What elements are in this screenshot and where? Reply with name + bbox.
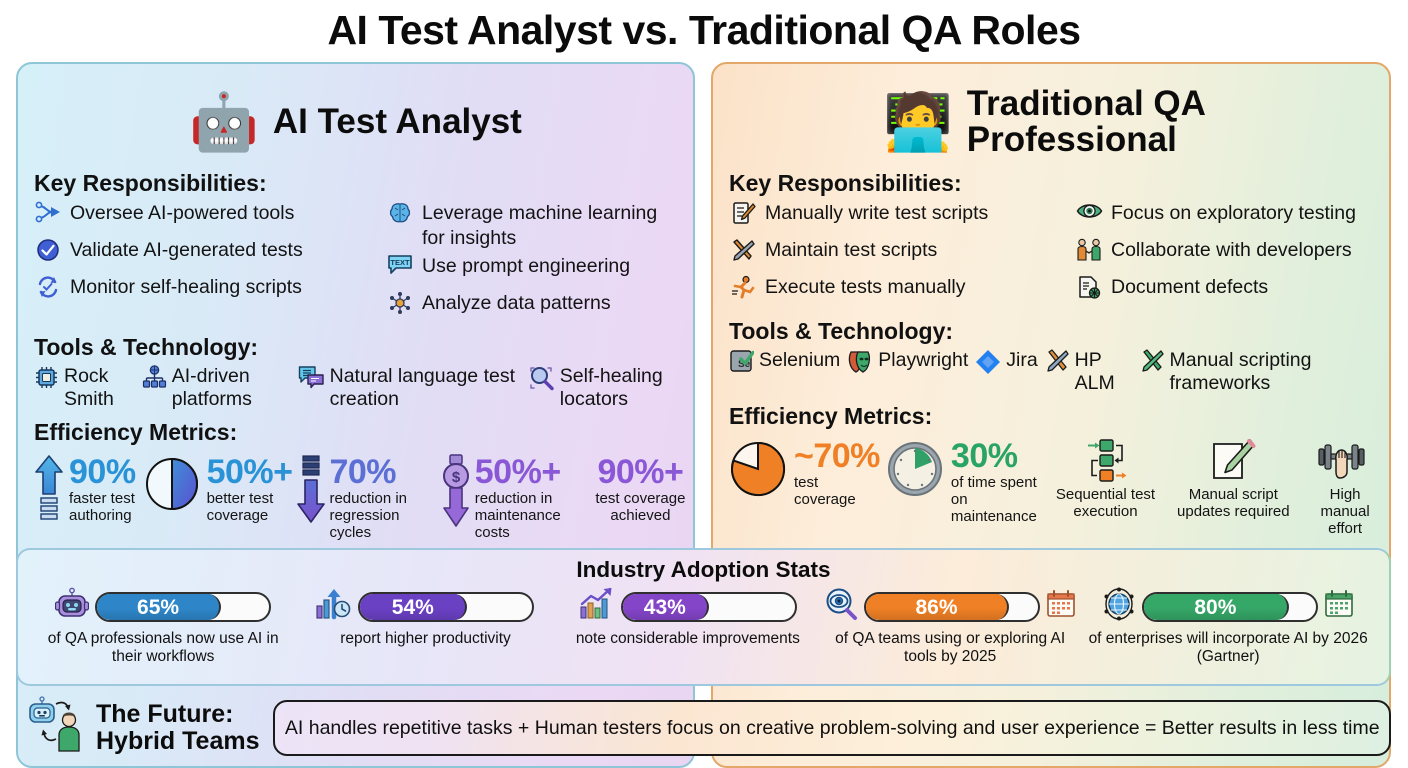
- list-item: Analyze data patterns: [386, 291, 683, 325]
- dollar-down-arrow-icon: $: [440, 454, 472, 528]
- list-item-label: Collaborate with developers: [1111, 238, 1352, 263]
- metric-value: 90%+: [597, 454, 683, 490]
- metric-caption: of time spent on maintenance: [951, 474, 1048, 525]
- stat-caption: report higher productivity: [340, 630, 511, 648]
- progress-bar-fill: 54%: [360, 594, 467, 620]
- growth-chart-icon: [579, 587, 615, 627]
- list-item-label: Monitor self-healing scripts: [70, 275, 302, 300]
- data-network-icon: [386, 291, 414, 322]
- tool-label: Playwright: [878, 349, 968, 372]
- list-item-label: Oversee AI-powered tools: [70, 201, 294, 226]
- selenium-icon: Se: [729, 349, 754, 380]
- left-metrics: 90% faster test authoring 50%+ better te…: [18, 450, 693, 541]
- metric-caption: Sequential test execution: [1054, 486, 1158, 520]
- down-arrow-icon: [296, 454, 326, 524]
- industry-adoption-stats-card: Industry Adoption Stats 65% of QA profes…: [16, 548, 1391, 686]
- list-item-label: Leverage machine learning for insights: [422, 201, 683, 251]
- metric-caption: High manual effort: [1307, 486, 1383, 537]
- tool-item: Self-healing locators: [528, 365, 685, 411]
- left-panel-heading: AI Test Analyst: [273, 104, 522, 140]
- list-item-label: Manually write test scripts: [765, 201, 988, 226]
- infographic-root: AI Test Analyst vs. Traditional QA Roles…: [0, 0, 1408, 768]
- future-hybrid-teams: The Future: Hybrid Teams AI handles repe…: [16, 692, 1391, 764]
- list-item: TEXT Use prompt engineering: [386, 254, 683, 288]
- future-label-line1: The Future:: [96, 701, 259, 728]
- left-tools: Rock Smith AI-driven platforms Natural l…: [18, 365, 693, 411]
- chip-icon: [34, 365, 59, 396]
- list-item: Validate AI-generated tests: [34, 238, 386, 272]
- stat-item: 65% of QA professionals now use AI in th…: [32, 587, 294, 666]
- eye-magnifier-icon: [824, 587, 858, 627]
- right-metrics-title: Efficiency Metrics:: [729, 403, 1389, 430]
- tool-item: Se Selenium: [729, 349, 840, 380]
- progress-percent: 65%: [137, 597, 179, 618]
- metric-item: Manual script updates required: [1169, 438, 1297, 520]
- robot-magnifier-icon: 🤖: [189, 94, 259, 150]
- eye-icon: [1075, 201, 1103, 228]
- future-message-bubble: AI handles repetitive tasks + Human test…: [273, 700, 1391, 756]
- metric-value: 50%+: [207, 453, 293, 491]
- list-item-label: Validate AI-generated tests: [70, 238, 303, 263]
- metric-caption: better test coverage: [207, 490, 293, 524]
- list-item-label: Maintain test scripts: [765, 238, 937, 263]
- hierarchy-icon: [142, 365, 167, 397]
- progress-bar-fill: 86%: [866, 594, 1009, 620]
- right-tools-title: Tools & Technology:: [729, 318, 1389, 345]
- svg-text:$: $: [452, 469, 461, 486]
- progress-bar-fill: 80%: [1144, 594, 1288, 620]
- progress-bar-fill: 43%: [623, 594, 709, 620]
- handshake-people-icon: [1075, 238, 1103, 270]
- list-item: Monitor self-healing scripts: [34, 275, 386, 309]
- tool-label: Self-healing locators: [560, 365, 685, 411]
- tool-item: AI-driven platforms: [142, 365, 288, 411]
- pencil-note-icon: [1208, 438, 1258, 484]
- metric-caption: reduction in maintenance costs: [475, 490, 586, 541]
- list-item: Maintain test scripts: [729, 238, 1075, 272]
- metric-caption: faster test authoring: [69, 490, 136, 524]
- list-item: Focus on exploratory testing: [1075, 201, 1379, 235]
- tool-item: Natural language test creation: [298, 365, 518, 411]
- metric-item: 30% of time spent on maintenance: [884, 438, 1048, 525]
- metric-caption: Manual script updates required: [1169, 486, 1297, 520]
- left-responsibilities-title: Key Responsibilities:: [34, 170, 693, 197]
- wrench-screwdriver-icon: [729, 238, 757, 270]
- chat-bubbles-icon: [298, 365, 325, 396]
- runner-icon: [729, 275, 757, 307]
- stat-item: 80% of enterprises will incorporate AI b…: [1081, 587, 1375, 666]
- metric-value: ~70%: [794, 437, 880, 475]
- notepad-pencil-icon: [729, 201, 757, 233]
- tool-label: HP ALM: [1075, 349, 1133, 395]
- stat-caption: of enterprises will incorporate AI by 20…: [1081, 630, 1375, 666]
- weight-lift-icon: [1317, 438, 1373, 484]
- stat-item: 43% note considerable improvements: [557, 587, 819, 666]
- tool-item: Jira: [975, 349, 1037, 381]
- calendar-icon: [1046, 589, 1076, 625]
- list-item: Manually write test scripts: [729, 201, 1075, 235]
- right-tools: Se Selenium Playwright Jira HP: [713, 349, 1389, 395]
- text-bubble-icon: TEXT: [386, 254, 414, 283]
- tool-item: Rock Smith: [34, 365, 132, 411]
- stat-caption: of QA teams using or exploring AI tools …: [819, 630, 1081, 666]
- arrow-branch-icon: [34, 201, 62, 230]
- tool-label: Jira: [1006, 349, 1037, 372]
- right-responsibilities-title: Key Responsibilities:: [729, 170, 1389, 197]
- sequential-flow-icon: [1076, 438, 1134, 484]
- half-pie-icon: [142, 454, 202, 514]
- stat-caption: of QA professionals now use AI in their …: [32, 630, 294, 666]
- clock-icon: [884, 438, 946, 500]
- robot-human-cycle-icon: [26, 695, 88, 761]
- progress-bar: 65%: [95, 592, 271, 622]
- document-bug-icon: [1075, 275, 1103, 307]
- magnifier-icon: [528, 365, 555, 397]
- list-item-label: Use prompt engineering: [422, 254, 630, 279]
- page-title: AI Test Analyst vs. Traditional QA Roles: [0, 2, 1408, 58]
- stats-row: 65% of QA professionals now use AI in th…: [18, 583, 1389, 666]
- tool-label: Natural language test creation: [330, 365, 518, 411]
- tool-label: AI-driven platforms: [172, 365, 288, 411]
- progress-bar-fill: 65%: [97, 594, 221, 620]
- list-item: Execute tests manually: [729, 275, 1075, 309]
- check-circle-icon: [34, 238, 62, 269]
- list-item: Oversee AI-powered tools: [34, 201, 386, 235]
- stat-item: 54% report higher productivity: [294, 587, 556, 666]
- metric-caption: test coverage achieved: [594, 490, 687, 524]
- globe-network-icon: [1102, 587, 1136, 627]
- metric-value: 70%: [329, 453, 396, 491]
- progress-percent: 80%: [1194, 597, 1236, 618]
- metric-value: 30%: [951, 437, 1018, 475]
- metric-item: $ 50%+ reduction in maintenance costs: [440, 454, 586, 541]
- right-heading-line2: Professional: [967, 122, 1206, 158]
- list-item: Leverage machine learning for insights: [386, 201, 683, 251]
- metric-value: 90%: [69, 453, 136, 491]
- list-item: Document defects: [1075, 275, 1379, 309]
- tool-item: Playwright: [847, 349, 968, 380]
- progress-percent: 86%: [916, 597, 958, 618]
- future-message: AI handles repetitive tasks + Human test…: [285, 717, 1380, 740]
- right-panel-header: 🧑‍💻 Traditional QA Professional: [713, 64, 1389, 166]
- pie-chart-icon: [727, 438, 789, 500]
- tools-cross-icon: [1045, 349, 1070, 380]
- playwright-mask-icon: [847, 349, 873, 380]
- list-item-label: Analyze data patterns: [422, 291, 611, 316]
- stats-title: Industry Adoption Stats: [18, 550, 1389, 583]
- left-responsibilities: Oversee AI-powered tools Validate AI-gen…: [18, 201, 693, 328]
- bar-chart-clock-icon: [316, 587, 352, 627]
- metric-item: High manual effort: [1307, 438, 1383, 537]
- left-metrics-title: Efficiency Metrics:: [34, 419, 693, 446]
- up-arrow-icon: [32, 454, 66, 520]
- metric-item: 90%+ test coverage achieved: [594, 454, 687, 524]
- progress-percent: 54%: [392, 597, 434, 618]
- right-metrics: ~70% test coverage 30% of time spent on …: [713, 434, 1389, 537]
- list-item-label: Document defects: [1111, 275, 1268, 300]
- future-label-text: The Future: Hybrid Teams: [96, 701, 259, 755]
- metric-item: 70% reduction in regression cycles: [296, 454, 435, 541]
- left-tools-title: Tools & Technology:: [34, 334, 693, 361]
- metric-caption: test coverage: [794, 474, 880, 508]
- robot-head-icon: [55, 587, 89, 627]
- right-panel-heading: Traditional QA Professional: [967, 86, 1206, 158]
- metric-item: 50%+ better test coverage: [142, 454, 293, 524]
- tool-item: Manual scripting frameworks: [1140, 349, 1381, 395]
- tool-item: HP ALM: [1045, 349, 1133, 395]
- metric-item: 90% faster test authoring: [32, 454, 136, 524]
- refresh-check-icon: [34, 275, 62, 306]
- stat-caption: note considerable improvements: [576, 630, 800, 648]
- metric-value: 50%+: [475, 453, 561, 491]
- progress-bar: 43%: [621, 592, 797, 622]
- tool-label: Manual scripting frameworks: [1170, 349, 1381, 395]
- jira-diamond-icon: [975, 349, 1001, 381]
- brain-icon: [386, 201, 414, 232]
- progress-bar: 80%: [1142, 592, 1318, 622]
- right-responsibilities: Manually write test scripts Maintain tes…: [713, 201, 1389, 312]
- calendar-icon: [1324, 589, 1354, 625]
- tool-label: Selenium: [759, 349, 840, 372]
- tool-label: Rock Smith: [64, 365, 132, 411]
- future-label-line2: Hybrid Teams: [96, 728, 259, 755]
- list-item: Collaborate with developers: [1075, 238, 1379, 272]
- progress-bar: 54%: [358, 592, 534, 622]
- progress-bar: 86%: [864, 592, 1040, 622]
- metric-caption: reduction in regression cycles: [329, 490, 435, 541]
- stat-item: 86% of QA teams using or exploring AI to…: [819, 587, 1081, 666]
- svg-text:TEXT: TEXT: [390, 258, 410, 267]
- qa-person-bug-icon: 🧑‍💻: [883, 94, 953, 150]
- list-item-label: Focus on exploratory testing: [1111, 201, 1356, 226]
- tools-green-icon: [1140, 349, 1165, 380]
- future-label: The Future: Hybrid Teams: [16, 695, 259, 761]
- metric-item: Sequential test execution: [1054, 438, 1158, 520]
- progress-percent: 43%: [644, 597, 686, 618]
- left-panel-header: 🤖 AI Test Analyst: [18, 64, 693, 166]
- right-heading-line1: Traditional QA: [967, 86, 1206, 122]
- list-item-label: Execute tests manually: [765, 275, 966, 300]
- metric-item: ~70% test coverage: [727, 438, 880, 508]
